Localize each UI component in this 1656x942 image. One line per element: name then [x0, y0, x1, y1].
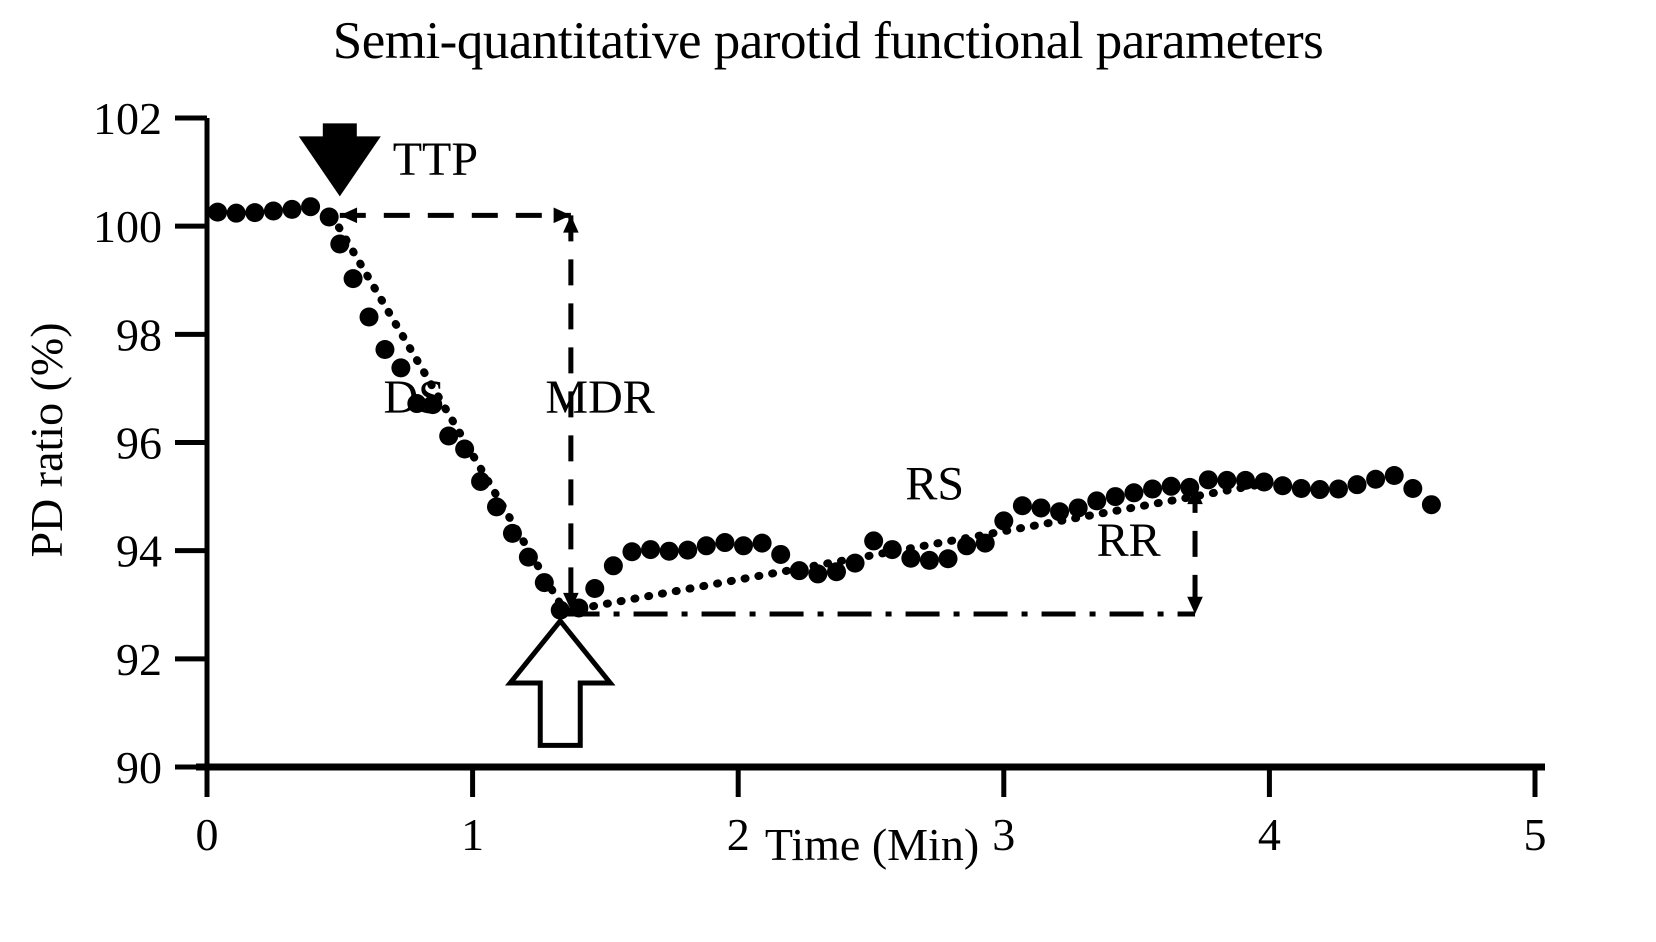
annotation-label-ds: DS	[383, 371, 444, 424]
nadir-arrow-up-icon	[510, 621, 610, 745]
data-point	[1069, 498, 1088, 517]
data-point	[375, 340, 394, 359]
y-axis-title: PD ratio (%)	[21, 322, 72, 557]
data-point	[957, 536, 976, 555]
data-point	[864, 531, 883, 550]
data-point	[208, 203, 227, 222]
data-point	[471, 472, 490, 491]
data-point	[920, 551, 939, 570]
data-point	[939, 549, 958, 568]
x-tick-label: 3	[992, 809, 1015, 860]
data-point	[503, 524, 522, 543]
data-point	[994, 511, 1013, 530]
y-tick-label: 94	[116, 526, 162, 577]
data-point	[1217, 471, 1236, 490]
data-point	[753, 534, 772, 553]
data-point	[1292, 479, 1311, 498]
data-point	[551, 601, 570, 620]
data-point	[1255, 472, 1274, 491]
data-point	[771, 545, 790, 564]
figure-container: Semi-quantitative parotid functional par…	[0, 0, 1656, 942]
data-point	[734, 536, 753, 555]
data-point	[360, 308, 379, 327]
data-point	[264, 202, 283, 221]
data-point	[535, 573, 554, 592]
y-tick-label: 100	[93, 201, 162, 252]
x-tick-label: 1	[461, 809, 484, 860]
data-point	[1013, 496, 1032, 515]
data-point	[245, 203, 264, 222]
chart-plot-area: 9092949698100102 012345 Time (Min) PD ra…	[0, 0, 1656, 942]
annotation-label-mdr: MDR	[545, 371, 654, 424]
data-point	[1199, 470, 1218, 489]
data-point	[1310, 480, 1329, 499]
data-point	[487, 497, 506, 516]
data-point	[1366, 470, 1385, 489]
x-tick-label: 2	[727, 809, 750, 860]
arrow-head	[340, 208, 357, 224]
x-tick-label: 5	[1524, 809, 1547, 860]
data-point	[301, 197, 320, 216]
data-point	[1124, 483, 1143, 502]
data-point	[641, 540, 660, 559]
data-point	[455, 439, 474, 458]
x-axis-ticks	[207, 767, 1535, 797]
data-point	[282, 200, 301, 219]
data-point	[901, 549, 920, 568]
data-point	[846, 554, 865, 573]
data-point	[1348, 475, 1367, 494]
data-point	[622, 542, 641, 561]
arrow-head	[1187, 597, 1203, 614]
data-point	[344, 269, 363, 288]
data-point	[1050, 502, 1069, 521]
annotation-label-rs: RS	[905, 457, 964, 510]
annotation-label-ttp: TTP	[393, 133, 478, 186]
annotations-group: TTPMDRDSRSRR	[299, 123, 1203, 745]
data-point	[1087, 491, 1106, 510]
data-point	[320, 207, 339, 226]
data-point	[1031, 498, 1050, 517]
data-point	[604, 556, 623, 575]
data-point	[976, 534, 995, 553]
x-axis-title: Time (Min)	[765, 819, 979, 870]
x-tick-label: 0	[196, 809, 219, 860]
data-point	[1329, 480, 1348, 499]
data-point	[1403, 479, 1422, 498]
y-axis-ticks	[175, 118, 207, 767]
data-point	[790, 561, 809, 580]
y-tick-label: 102	[93, 93, 162, 144]
data-point	[330, 235, 349, 254]
arrow-head	[554, 208, 571, 224]
y-tick-label: 98	[116, 309, 162, 360]
data-point	[808, 564, 827, 583]
data-point	[827, 562, 846, 581]
data-point	[227, 204, 246, 223]
data-point	[697, 536, 716, 555]
data-point	[519, 548, 538, 567]
data-point	[585, 579, 604, 598]
data-point	[1273, 476, 1292, 495]
arrow-head	[563, 215, 579, 232]
data-point	[1422, 495, 1441, 514]
data-point	[1143, 480, 1162, 499]
annotation-label-rr: RR	[1097, 514, 1161, 567]
y-tick-label: 96	[116, 418, 162, 469]
data-point	[1162, 477, 1181, 496]
stimulus-arrow-down-icon	[299, 123, 381, 196]
data-point	[883, 540, 902, 559]
data-point	[1385, 466, 1404, 485]
x-tick-label: 4	[1258, 809, 1281, 860]
data-point	[660, 542, 679, 561]
data-point	[678, 541, 697, 560]
data-point	[715, 533, 734, 552]
y-tick-label: 90	[116, 742, 162, 793]
y-tick-label: 92	[116, 634, 162, 685]
y-axis-tick-labels: 9092949698100102	[93, 93, 162, 793]
data-point	[439, 427, 458, 446]
data-point	[1236, 471, 1255, 490]
data-point	[1106, 487, 1125, 506]
